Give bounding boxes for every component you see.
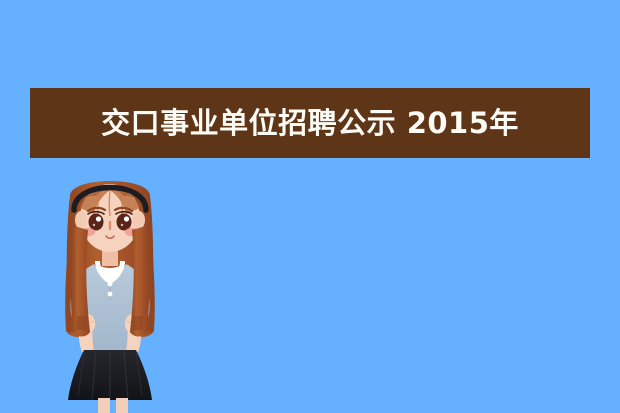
legs bbox=[98, 398, 128, 413]
title-banner: 交口事业单位招聘公示 2015年 bbox=[30, 88, 590, 158]
announcement-banner-card: 交口事业单位招聘公示 2015年 bbox=[0, 0, 620, 413]
skirt bbox=[68, 350, 152, 400]
page-title: 交口事业单位招聘公示 2015年 bbox=[101, 109, 519, 138]
schoolgirl-illustration bbox=[40, 166, 180, 413]
